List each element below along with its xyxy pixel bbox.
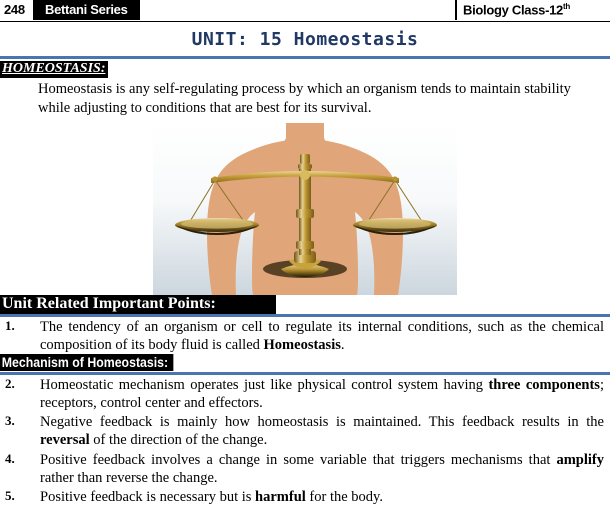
text-segment: Homeostatic mechanism operates just like… (40, 377, 488, 393)
list-item-text: Positive feedback involves a change in s… (40, 451, 610, 488)
homeostasis-paragraph: Homeostasis is any self-regulating proce… (38, 80, 604, 117)
header-divider (455, 0, 457, 20)
class-label: Biology Class-12th (463, 2, 570, 17)
homeostasis-illustration (153, 123, 457, 295)
list-item-number: 5. (0, 488, 40, 504)
list-item-number: 4. (0, 451, 40, 467)
unit-title: UNIT: 15 Homeostasis (0, 29, 610, 50)
text-segment-tail: for the body. (306, 489, 383, 505)
class-label-superscript: th (563, 2, 570, 11)
list-item-number: 3. (0, 413, 40, 429)
text-segment: Positive feedback involves a change in s… (40, 452, 556, 468)
text-segment: Negative feedback is mainly how homeosta… (40, 414, 604, 430)
page-number: 248 (4, 2, 25, 17)
mechanism-heading: Mechanism of Homeostasis: (0, 354, 173, 371)
bold-term: harmful (255, 489, 306, 505)
mechanism-heading-row: Mechanism of Homeostasis: (0, 354, 610, 372)
list-item-text: Homeostatic mechanism operates just like… (40, 376, 610, 413)
text-segment: Positive feedback is necessary but is (40, 489, 255, 505)
unit-points-heading-row: Unit Related Important Points: (0, 295, 610, 314)
list-item: 2. Homeostatic mechanism operates just l… (0, 375, 610, 413)
list-item-text: Positive feedback is necessary but is ha… (40, 488, 610, 506)
series-label: Bettani Series (45, 2, 128, 17)
text-segment-tail: of the direction of the change. (90, 432, 268, 448)
list-item-number: 2. (0, 376, 40, 392)
list-item: 4. Positive feedback involves a change i… (0, 450, 610, 488)
list-item: 5. Positive feedback is necessary but is… (0, 487, 610, 506)
bold-term: reversal (40, 432, 90, 448)
bold-term: amplify (556, 452, 604, 468)
text-segment-tail: rather than reverse the change. (40, 470, 218, 486)
text-segment-tail: . (341, 337, 345, 353)
list-item: 3. Negative feedback is mainly how homeo… (0, 412, 610, 450)
list-item: 1. The tendency of an organism or cell t… (0, 317, 610, 355)
list-item-number: 1. (0, 318, 40, 334)
unit-points-heading: Unit Related Important Points: (0, 295, 276, 314)
balance-scale-over-torso-icon (153, 123, 457, 295)
homeostasis-heading-row: HOMEOSTASIS: (0, 59, 610, 78)
homeostasis-heading: HOMEOSTASIS: (0, 61, 108, 78)
list-item-text: Negative feedback is mainly how homeosta… (40, 413, 610, 450)
page-header: 248 Bettani Series Biology Class-12th (0, 0, 610, 22)
list-item-text: The tendency of an organism or cell to r… (40, 318, 610, 355)
class-label-text: Biology Class-12 (463, 2, 563, 17)
bold-term: three components (488, 377, 600, 393)
illustration-wrapper (0, 123, 610, 295)
bold-term: Homeostasis (264, 337, 341, 353)
